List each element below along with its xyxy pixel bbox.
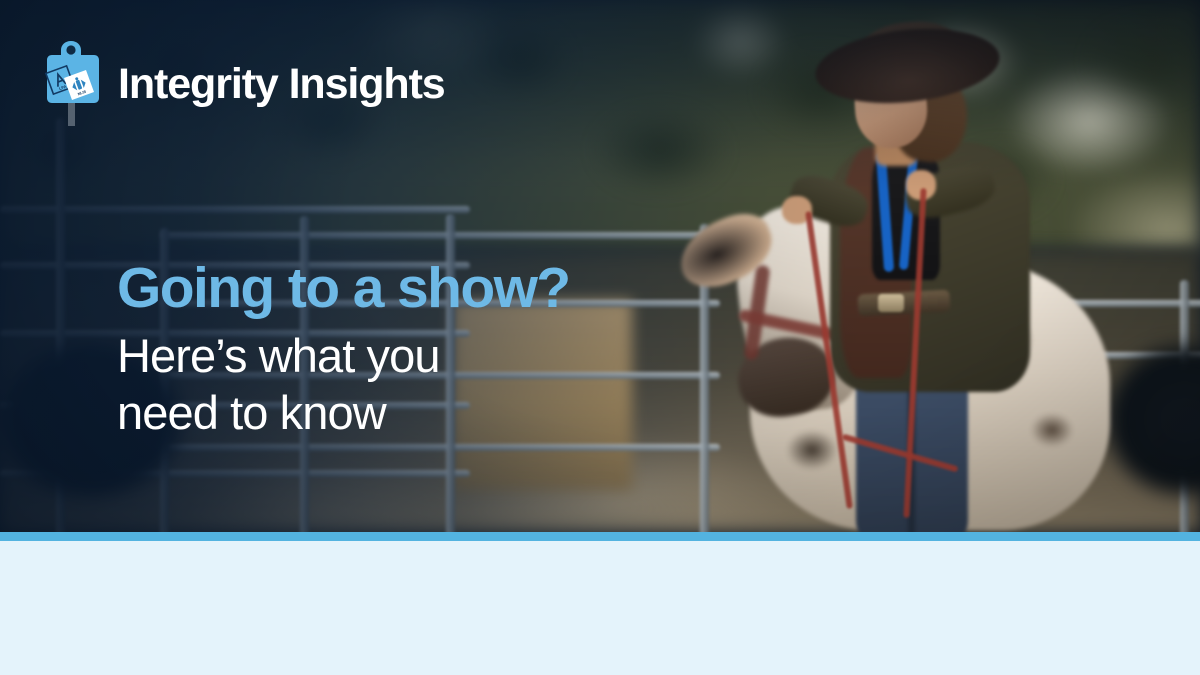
hero-photo: LPA NLIS Integrity Insights Going to a s…: [0, 0, 1200, 532]
brand-title: Integrity Insights: [118, 63, 445, 106]
footer-bar: Stand by what you sell Integrity Systems…: [0, 541, 1200, 675]
headline-block: Going to a show? Here’s what you need to…: [117, 258, 717, 441]
campaign-banner: LPA NLIS Integrity Insights Going to a s…: [0, 0, 1200, 675]
ear-tag-icon: LPA NLIS: [42, 38, 102, 131]
brand-lockup: LPA NLIS Integrity Insights: [42, 38, 445, 131]
headline-line-3: need to know: [117, 385, 717, 441]
headline-line-2: Here’s what you: [117, 328, 717, 384]
headline-line-1: Going to a show?: [117, 258, 717, 318]
accent-stripe: [0, 532, 1200, 541]
